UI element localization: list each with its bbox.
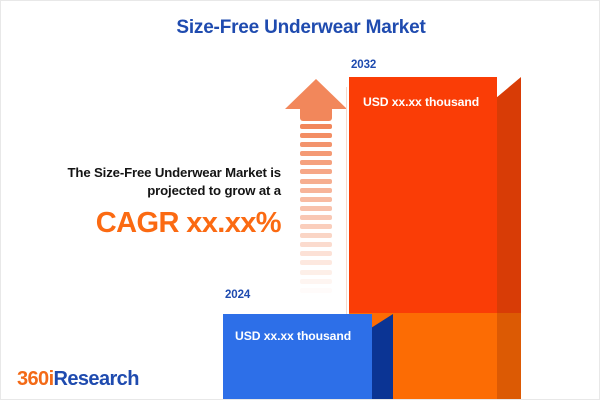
- arrow-shaft-segment: [300, 142, 332, 147]
- arrow-shaft-segment: [300, 224, 332, 229]
- arrow-shaft-segment: [300, 133, 332, 138]
- bar-2032-side-face-lower: [496, 313, 521, 400]
- up-arrow-icon: [285, 79, 347, 294]
- cagr-callout: The Size-Free Underwear Market is projec…: [19, 164, 283, 239]
- bar-2024-front-face: [223, 314, 372, 400]
- arrow-shaft-segments: [300, 124, 332, 294]
- arrow-shaft-segment: [300, 242, 332, 247]
- arrow-shaft-segment: [300, 251, 332, 256]
- callout-line-2: projected to grow at a: [147, 183, 281, 198]
- arrow-shaft-segment: [300, 233, 332, 238]
- arrow-shaft-segment: [300, 151, 332, 156]
- bar-2024-value-label: USD xx.xx thousand: [235, 329, 351, 343]
- arrow-shaft-segment: [300, 160, 332, 165]
- arrow-shaft-segment: [300, 179, 332, 184]
- bar-2032-value-label: USD xx.xx thousand: [363, 95, 479, 109]
- arrow-head-icon: [285, 79, 347, 109]
- bar-2032-year-label: 2032: [351, 59, 376, 71]
- arrow-shaft-segment: [300, 124, 332, 129]
- arrow-shaft-segment: [300, 270, 332, 275]
- callout-text: The Size-Free Underwear Market is projec…: [19, 164, 281, 200]
- brand-logo[interactable]: 360iResearch: [17, 368, 139, 391]
- logo-360: 360: [17, 368, 49, 390]
- bar-2024: [223, 314, 393, 400]
- arrow-shaft-segment: [300, 260, 332, 265]
- arrow-shaft-segment: [300, 197, 332, 202]
- bar-2024-side-face: [371, 314, 393, 400]
- logo-research: Research: [54, 368, 139, 390]
- arrow-shaft-segment: [300, 215, 332, 220]
- arrow-shaft-segment: [300, 288, 332, 293]
- arrow-shaft-segment: [300, 169, 332, 174]
- arrow-neck-shape: [300, 108, 332, 121]
- market-growth-infographic: Size-Free Underwear Market The Size-Free…: [0, 0, 600, 400]
- arrow-shaft-segment: [300, 188, 332, 193]
- bar-2024-year-label: 2024: [225, 289, 250, 301]
- arrow-shaft-segment: [300, 206, 332, 211]
- bar-2032-front-face-upper: [349, 77, 497, 313]
- callout-line-1: The Size-Free Underwear Market is: [68, 165, 281, 180]
- page-title: Size-Free Underwear Market: [1, 17, 600, 39]
- arrow-shaft-segment: [300, 279, 332, 284]
- cagr-value: CAGR xx.xx%: [19, 208, 281, 238]
